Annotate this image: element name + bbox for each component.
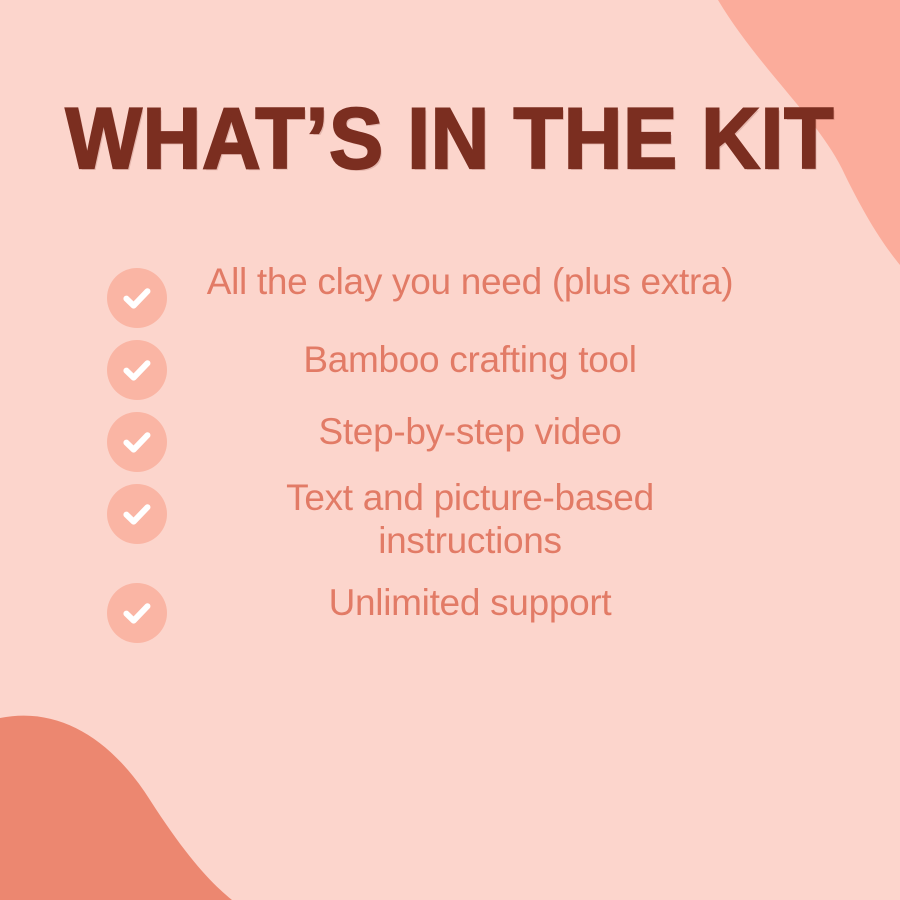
kit-contents-list: All the clay you need (plus extra) Bambo… xyxy=(0,258,900,635)
list-item: Bamboo crafting tool xyxy=(0,330,900,392)
check-icon xyxy=(107,340,167,400)
check-icon xyxy=(107,412,167,472)
list-item: Unlimited support xyxy=(0,573,900,635)
list-item: Text and picture-based instructions xyxy=(0,474,900,563)
page-title: WHAT’S IN THE KIT xyxy=(66,96,835,182)
list-item-label: Step-by-step video xyxy=(190,402,750,453)
blob-bottom-left-shape xyxy=(0,716,232,900)
poster-canvas: WHAT’S IN THE KIT All the clay you need … xyxy=(0,0,900,900)
list-item: All the clay you need (plus extra) xyxy=(0,258,900,320)
list-item-label: Bamboo crafting tool xyxy=(190,330,750,381)
list-item-label: Unlimited support xyxy=(190,573,750,624)
page-title-container: WHAT’S IN THE KIT xyxy=(0,96,900,182)
list-item: Step-by-step video xyxy=(0,402,900,464)
check-icon xyxy=(107,268,167,328)
list-item-label: All the clay you need (plus extra) xyxy=(190,258,750,303)
check-icon xyxy=(107,484,167,544)
list-item-label: Text and picture-based instructions xyxy=(190,474,750,563)
check-icon xyxy=(107,583,167,643)
